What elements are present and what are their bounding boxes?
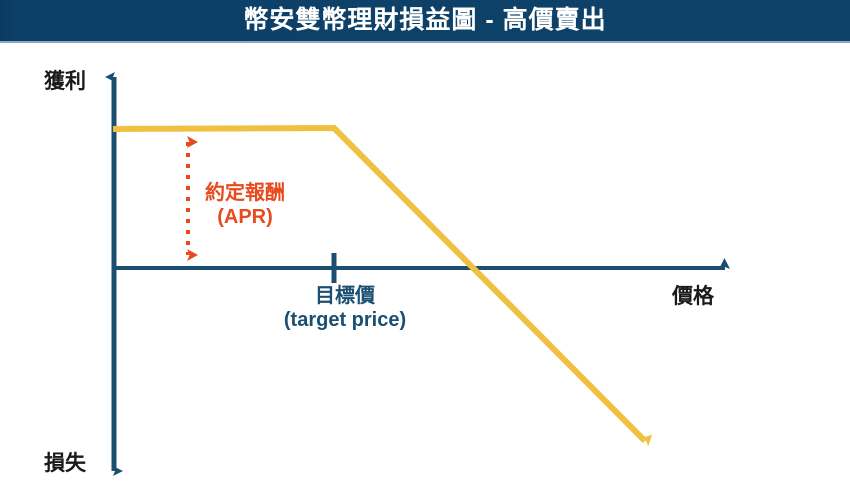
x-axis-label: 價格 [672, 285, 714, 310]
target-price-line1: 目標價 [315, 285, 375, 307]
payoff-chart-svg [0, 43, 850, 502]
apr-annotation-label: 約定報酬 (APR) [205, 182, 285, 229]
title-bar: 幣安雙幣理財損益圖 - 高價賣出 [0, 0, 850, 43]
y-axis-bottom-label: 損失 [44, 452, 86, 477]
apr-annotation-line2: (APR) [205, 206, 285, 230]
y-axis-top-label: 獲利 [44, 70, 86, 95]
apr-annotation-line1: 約定報酬 [205, 182, 285, 204]
target-price-line2: (target price) [267, 309, 423, 333]
payoff-diagram-screen: 幣安雙幣理財損益圖 - 高價賣出 [0, 0, 850, 502]
chart-plot-area [0, 43, 850, 502]
target-price-label: 目標價 (target price) [267, 285, 423, 332]
page-title: 幣安雙幣理財損益圖 - 高價賣出 [0, 0, 850, 41]
